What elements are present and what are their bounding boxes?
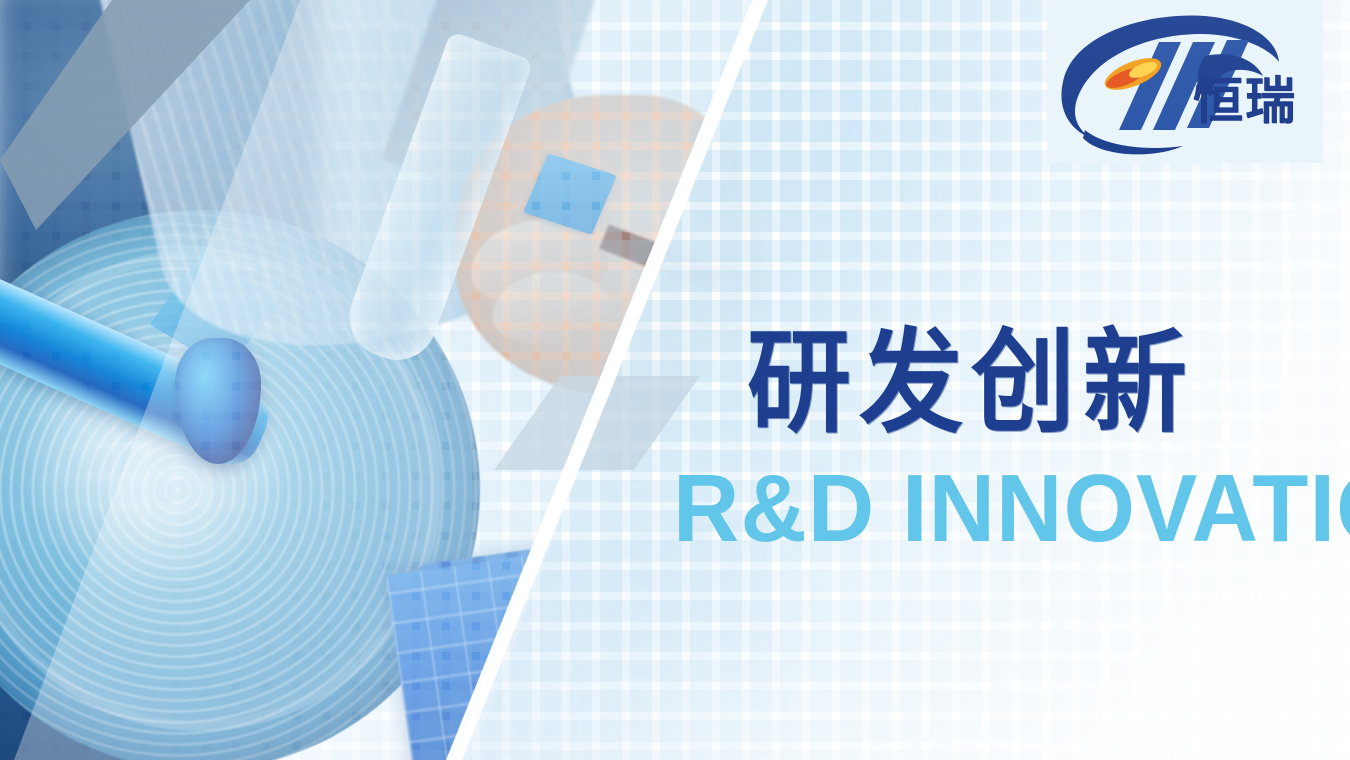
page-subtitle: R&D INNOVATION — [673, 462, 1350, 557]
rd-innovation-banner: 研发创新 R&D INNOVATION 恒瑞 — [0, 0, 1350, 760]
logo-arc-tail — [1083, 130, 1183, 154]
brand-name: 恒瑞 — [1193, 76, 1297, 126]
brand-logo[interactable]: 恒瑞 — [1055, 10, 1325, 160]
page-title: 研发创新 — [747, 322, 1195, 443]
